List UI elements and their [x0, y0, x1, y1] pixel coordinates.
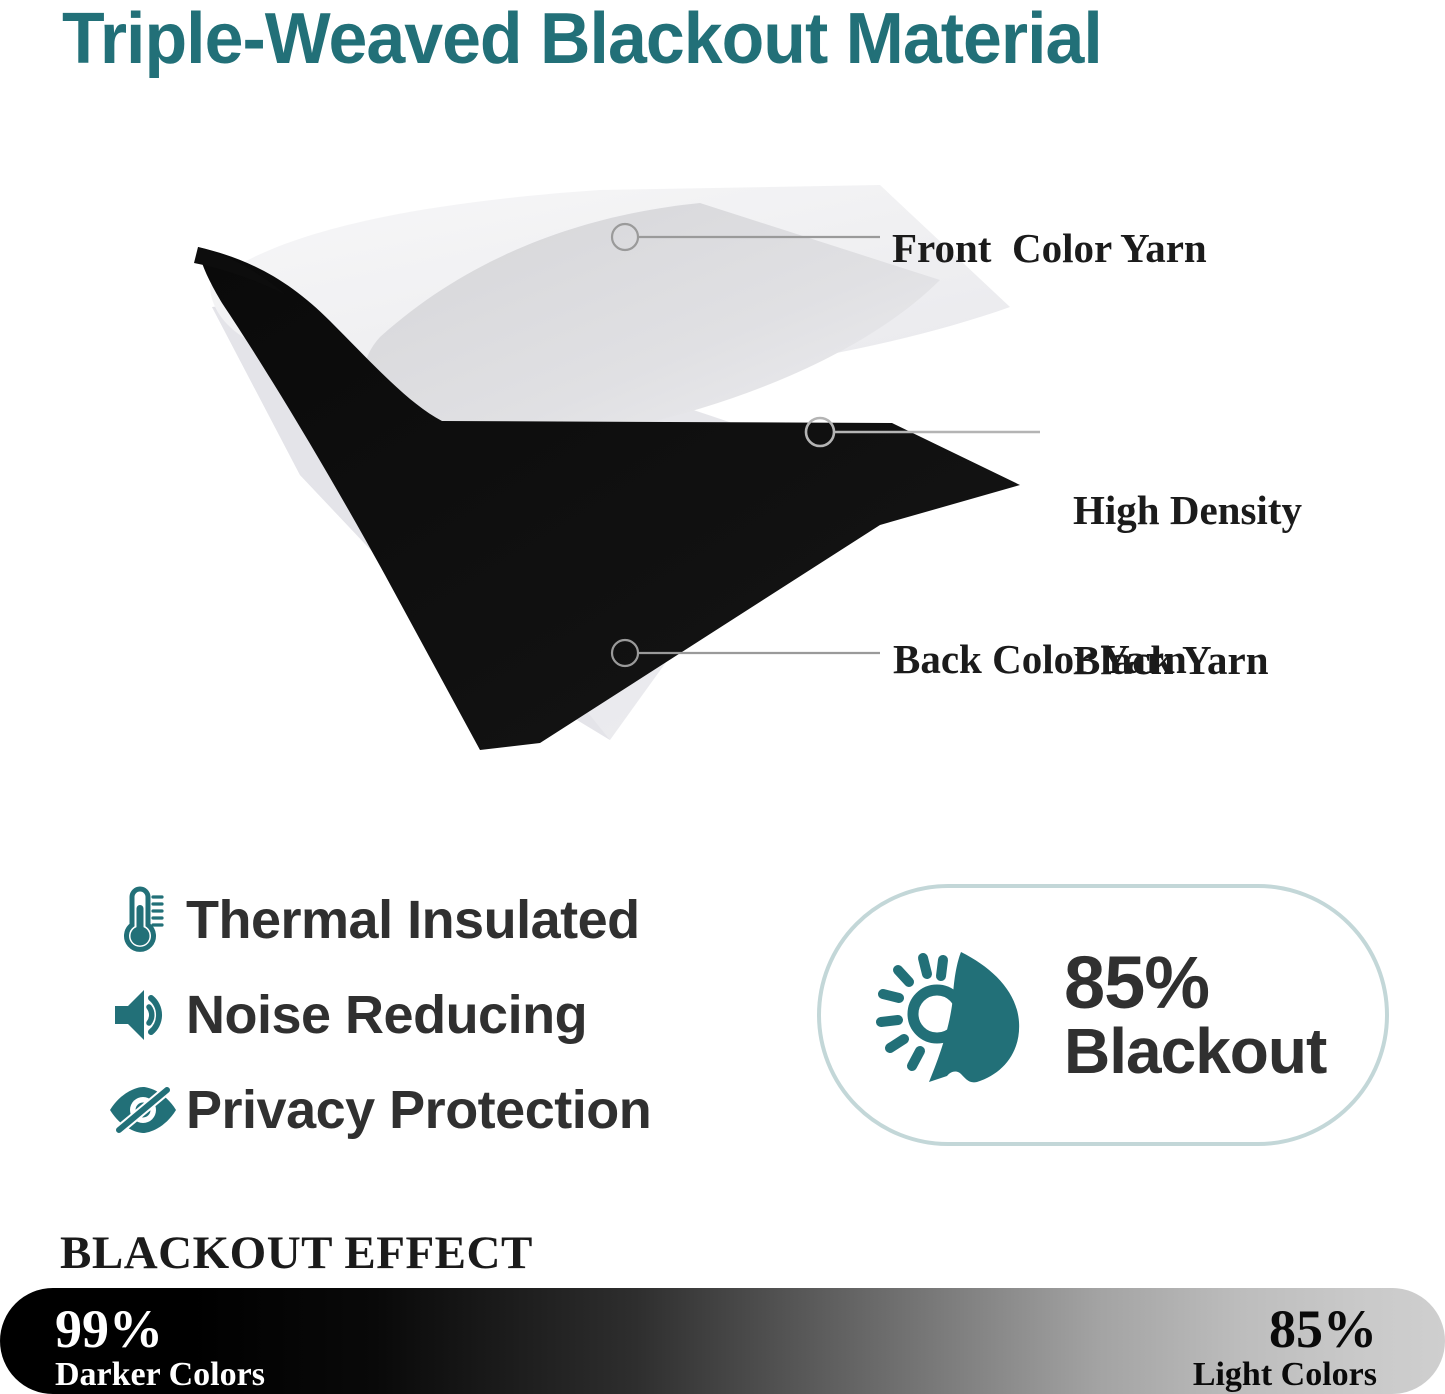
feature-label-thermal-insulated: Thermal Insulated: [186, 889, 640, 951]
blackout-badge-text: 85% Blackout: [1064, 947, 1326, 1082]
light-colors-percent: 85%: [1193, 1302, 1377, 1356]
darker-colors-percent: 99%: [55, 1302, 265, 1356]
callout-label-front-color-yarn: Front Color Yarn: [892, 222, 1207, 274]
eye-slash-icon: [100, 1084, 186, 1136]
blackout-effect-heading: BLACKOUT EFFECT: [60, 1226, 533, 1280]
feature-list: Thermal Insulated Noise Reducing: [100, 872, 760, 1157]
callout-label-line-1: High Density: [1073, 485, 1302, 535]
blackout-percentage-badge: 85% Blackout: [817, 884, 1389, 1146]
blackout-percent-value: 85%: [1064, 947, 1326, 1020]
thermometer-icon: [100, 883, 186, 957]
blackout-stat-darker-colors: 99% Darker Colors: [55, 1302, 265, 1392]
feature-item-privacy-protection: Privacy Protection: [100, 1062, 760, 1157]
sun-blackout-icon: [861, 940, 1036, 1090]
light-colors-caption: Light Colors: [1193, 1358, 1377, 1392]
feature-item-thermal-insulated: Thermal Insulated: [100, 872, 760, 967]
speaker-icon: [100, 986, 186, 1044]
feature-item-noise-reducing: Noise Reducing: [100, 967, 760, 1062]
blackout-effect-gradient-bar: 99% Darker Colors 85% Light Colors: [0, 1288, 1445, 1394]
page-title: Triple-Weaved Blackout Material: [62, 0, 1362, 80]
blackout-stat-light-colors: 85% Light Colors: [1193, 1302, 1377, 1392]
callout-label-back-color-yarn: Back Color Yarn: [893, 633, 1187, 685]
blackout-word-label: Blackout: [1064, 1020, 1326, 1083]
feature-label-noise-reducing: Noise Reducing: [186, 984, 587, 1046]
darker-colors-caption: Darker Colors: [55, 1358, 265, 1392]
feature-label-privacy-protection: Privacy Protection: [186, 1079, 651, 1141]
